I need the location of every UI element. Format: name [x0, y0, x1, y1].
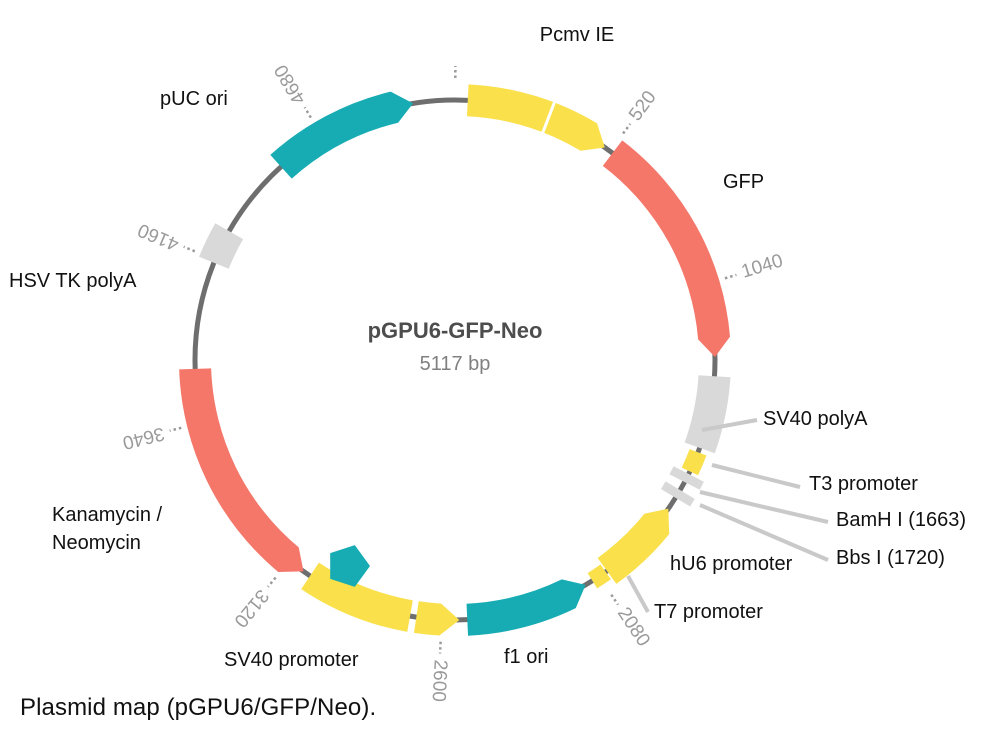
label-sv40-promoter: SV40 promoter	[224, 649, 359, 671]
feature-shape[interactable]	[467, 579, 586, 635]
feature-sv40-polya[interactable]	[685, 375, 731, 453]
tick-label: 4680	[271, 61, 311, 108]
plasmid-feature-labels: Pcmv IEGFPSV40 polyAT3 promoterBamH I (1…	[9, 24, 966, 671]
feature-shape[interactable]	[685, 375, 731, 453]
tick-label: 3640	[120, 422, 166, 453]
label-t7-promoter: T7 promoter	[654, 601, 763, 623]
tick-mark	[725, 275, 736, 278]
label-gfp: GFP	[723, 171, 764, 193]
feature-shape[interactable]	[467, 84, 605, 150]
ruler-tick-3120: 3120	[230, 578, 276, 631]
label-pcmv-ie: Pcmv IE	[540, 24, 614, 46]
tick-label: 2600	[428, 659, 451, 702]
tick-mark	[623, 124, 630, 134]
feature-unnamed-arrow[interactable]	[414, 601, 459, 635]
tick-label: 1040	[739, 250, 786, 282]
label-bbsi: Bbs I (1720)	[836, 547, 945, 569]
feature-pcmv-ie[interactable]	[467, 84, 605, 150]
leader-line	[700, 492, 828, 522]
tick-label: 4160	[135, 219, 182, 255]
label-kanamycin-1: Kanamycin /	[52, 504, 162, 526]
feature-gfp[interactable]	[603, 140, 730, 357]
inner-marker-pentagon[interactable]	[330, 545, 370, 587]
tick-mark	[611, 595, 618, 605]
feature-hsv-tk-polya[interactable]	[199, 223, 243, 268]
tick-label: 3120	[230, 585, 273, 631]
ruler-tick-1040: 1040	[725, 250, 786, 282]
figure-caption: Plasmid map (pGPU6/GFP/Neo).	[20, 694, 376, 722]
ruler-tick-4160: 4160	[135, 219, 195, 255]
ruler-tick-2600: 2600	[428, 642, 451, 703]
feature-shape[interactable]	[199, 223, 243, 268]
plasmid-name: pGPU6-GFP-Neo	[368, 318, 543, 343]
plasmid-map-figure: 5201040208026003120364041604680 Pcmv IEG…	[0, 0, 982, 744]
feature-t3-promoter[interactable]	[682, 449, 707, 475]
leader-line	[700, 505, 828, 560]
feature-shape[interactable]	[598, 509, 670, 584]
tick-mark	[305, 107, 311, 117]
feature-shape[interactable]	[682, 449, 707, 475]
tick-mark	[268, 578, 276, 587]
label-f1-ori: f1 ori	[504, 646, 548, 668]
ruler-tick-4680: 4680	[271, 61, 311, 118]
tick-mark	[440, 642, 441, 654]
label-t3-promoter: T3 promoter	[809, 473, 918, 495]
plasmid-size: 5117 bp	[420, 353, 491, 375]
restriction-site-tick[interactable]	[663, 485, 692, 503]
label-puc-ori: pUC ori	[160, 88, 228, 110]
tick-label: 520	[625, 87, 661, 125]
ruler-tick-520: 520	[623, 87, 661, 133]
feature-bbsi-site[interactable]	[663, 485, 692, 503]
feature-shape[interactable]	[179, 368, 303, 572]
label-hu6-promoter: hU6 promoter	[670, 553, 793, 575]
feature-f1-ori[interactable]	[467, 579, 586, 635]
label-hsv-tk-polya: HSV TK polyA	[9, 270, 137, 292]
label-kanamycin-2: Neomycin	[52, 532, 141, 554]
ruler-tick-3640: 3640	[120, 422, 181, 453]
tick-mark	[184, 247, 195, 252]
feature-inner-marker[interactable]	[330, 545, 370, 587]
feature-kanamycin-neomycin[interactable]	[179, 368, 303, 572]
plasmid-map-svg: 5201040208026003120364041604680 Pcmv IEG…	[0, 0, 982, 744]
feature-shape[interactable]	[414, 601, 459, 635]
label-bamhi: BamH I (1663)	[836, 509, 966, 531]
tick-mark	[170, 428, 182, 431]
label-sv40-polya: SV40 polyA	[763, 408, 868, 430]
feature-shape[interactable]	[603, 140, 730, 357]
ruler-tick-2080: 2080	[611, 595, 654, 651]
feature-hu6-promoter[interactable]	[598, 509, 670, 584]
leader-line	[712, 465, 800, 487]
